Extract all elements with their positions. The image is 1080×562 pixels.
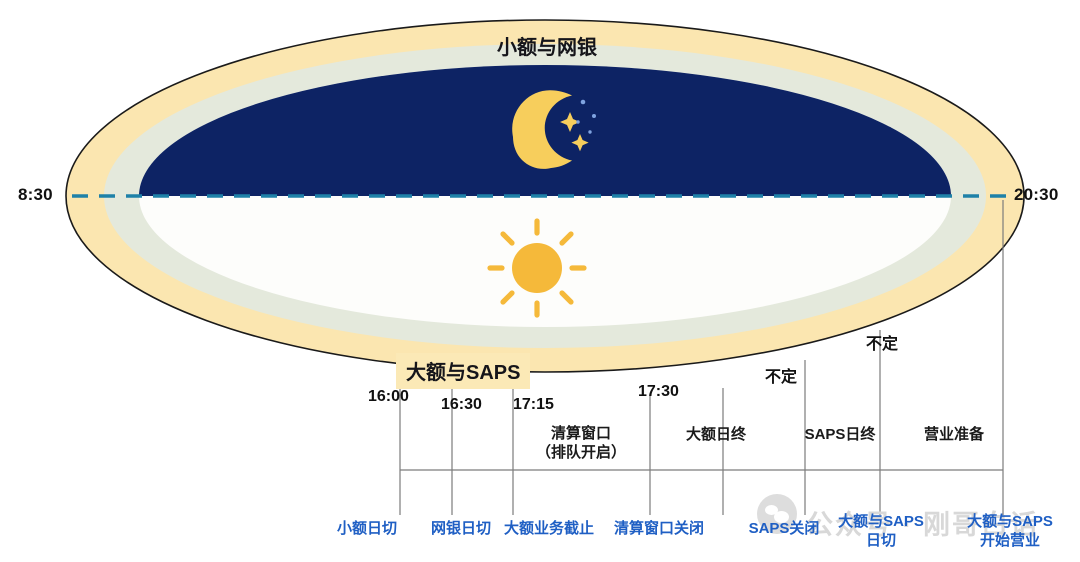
page-title-night: 小额与网银 (497, 31, 597, 60)
diagram-canvas: 8:30 20:30 小额与网银 大额与SAPS 16:00 16:30 17:… (0, 0, 1080, 562)
uncertain-label-2: 不定 (866, 330, 898, 354)
event-line-2: 开始营业 (954, 532, 1066, 551)
day-end-time: 20:30 (1014, 185, 1058, 205)
event-label-ebank-cutoff: 网银日切 (424, 520, 498, 539)
banner-day: 大额与SAPS (396, 353, 530, 389)
phase-line-1: 清算窗口 (515, 424, 647, 443)
event-label-saps-close: SAPS关闭 (740, 520, 828, 539)
event-line-1: 大额与SAPS (833, 513, 929, 532)
phase-label-business-prep: 营业准备 (895, 425, 1013, 444)
sun-icon (490, 221, 584, 315)
tick-label-1730: 17:30 (638, 383, 679, 401)
event-line-1: 大额与SAPS (954, 513, 1066, 532)
phase-line-2: （排队开启） (515, 443, 647, 462)
phase-label-hvps-eod: 大额日终 (652, 425, 780, 444)
event-line-2: 日切 (833, 532, 929, 551)
event-label-hvps-business-close: 大额业务截止 (497, 520, 601, 539)
day-start-time: 8:30 (18, 185, 53, 205)
phase-label-saps-eod: SAPS日终 (780, 425, 900, 444)
tick-label-1715: 17:15 (513, 396, 554, 414)
event-label-hvps-saps-cutoff: 大额与SAPS 日切 (833, 513, 929, 551)
event-label-bahnet-cutoff: 小额日切 (330, 520, 404, 539)
tick-label-1600: 16:00 (368, 388, 409, 406)
tick-label-1630: 16:30 (441, 396, 482, 414)
phase-label-clearing-window: 清算窗口 （排队开启） (515, 424, 647, 462)
uncertain-label-1: 不定 (765, 363, 797, 387)
event-label-clearing-window-close: 清算窗口关闭 (604, 520, 714, 539)
timeline-ellipse-graphic (0, 0, 1080, 562)
event-label-hvps-saps-open: 大额与SAPS 开始营业 (954, 513, 1066, 551)
